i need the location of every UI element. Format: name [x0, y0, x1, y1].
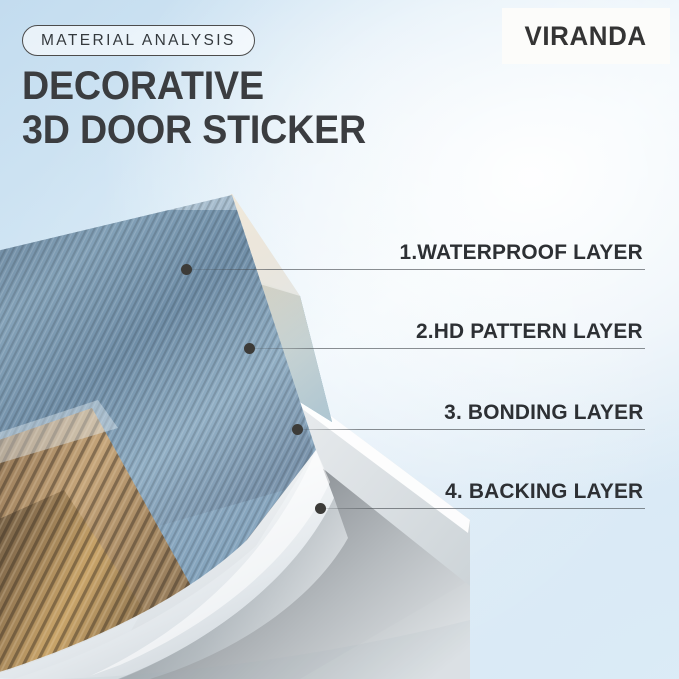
peeling-sticker-artwork: [0, 150, 470, 679]
callout-dot-icon: [181, 264, 192, 275]
page-title-line2: 3D DOOR STICKER: [22, 108, 366, 152]
page-title-line1: DECORATIVE: [22, 64, 264, 108]
eyebrow-label: MATERIAL ANALYSIS: [41, 32, 236, 50]
callout-leader-line: [186, 269, 645, 270]
callout-label: 4. BACKING LAYER: [445, 479, 643, 504]
page-title: DECORATIVE 3D DOOR STICKER: [22, 64, 366, 152]
callout-dot-icon: [315, 503, 326, 514]
brand-logo: VIRANDA: [502, 8, 670, 64]
callout-label: 1.WATERPROOF LAYER: [400, 240, 643, 265]
callout-dot-icon: [244, 343, 255, 354]
callout-label: 3. BONDING LAYER: [444, 400, 643, 425]
callout-label: 2.HD PATTERN LAYER: [416, 319, 643, 344]
material-analysis-infographic: MATERIAL ANALYSIS DECORATIVE 3D DOOR STI…: [0, 0, 679, 679]
callout-leader-line: [249, 348, 645, 349]
callout-dot-icon: [292, 424, 303, 435]
callout-leader-line: [320, 508, 645, 509]
eyebrow-badge: MATERIAL ANALYSIS: [22, 25, 255, 56]
brand-logo-text: VIRANDA: [525, 21, 647, 52]
callout-leader-line: [297, 429, 645, 430]
